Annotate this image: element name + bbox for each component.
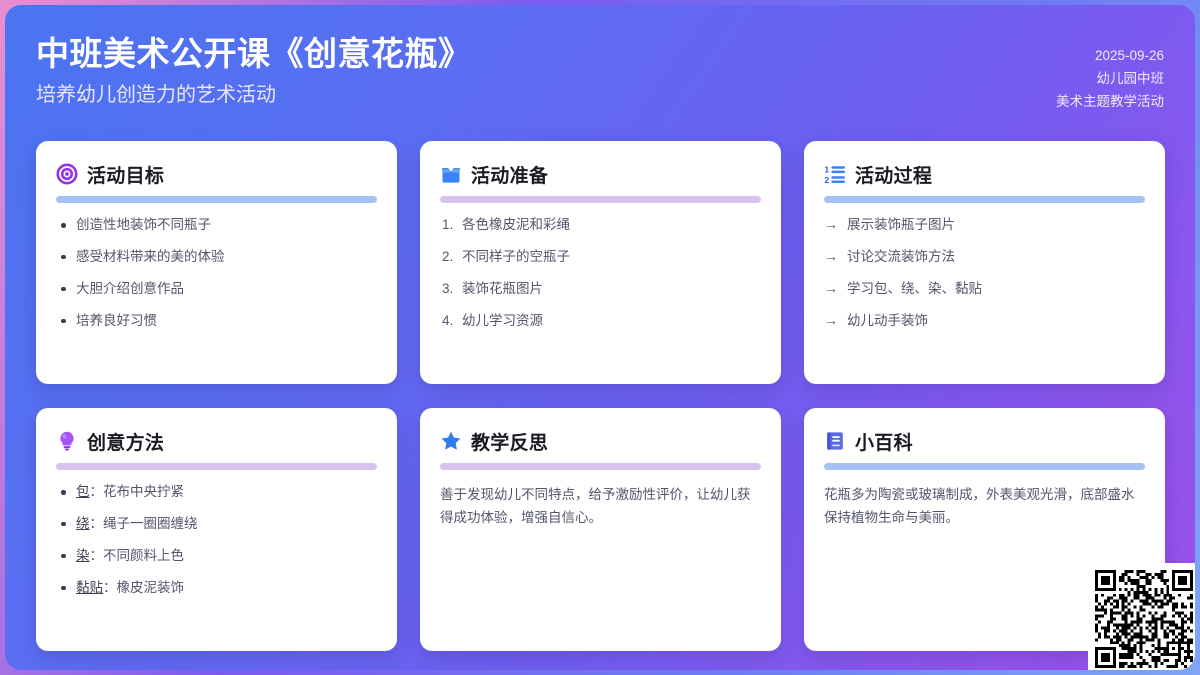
card-preparation[interactable]: 活动准备 各色橡皮泥和彩绳 不同样子的空瓶子 装饰花瓶图片 幼儿学习资源 [420, 141, 781, 384]
card-header: 活动准备 [440, 161, 761, 187]
meta-class: 幼儿园中班 [1056, 67, 1164, 90]
process-list: 展示装饰瓶子图片 讨论交流装饰方法 学习包、绕、染、黏贴 幼儿动手装饰 [824, 216, 1145, 331]
list-item: 黏贴：橡皮泥装饰 [56, 579, 377, 598]
list-item: 创造性地装饰不同瓶子 [56, 216, 377, 235]
card-reflection[interactable]: 教学反思 善于发现幼儿不同特点，给予激励性评价，让幼儿获得成功体验，增强自信心。 [420, 408, 781, 651]
svg-text:1: 1 [824, 164, 829, 174]
qr-code-container[interactable] [1088, 563, 1195, 670]
methods-list: 包：花布中央拧紧 绕：绳子一圈圈缠绕 染：不同颜料上色 黏贴：橡皮泥装饰 [56, 483, 377, 598]
encyclopedia-paragraph: 花瓶多为陶瓷或玻璃制成，外表美观光滑，底部盛水保持植物生命与美丽。 [824, 483, 1145, 530]
list-item: 包：花布中央拧紧 [56, 483, 377, 502]
qr-code [1095, 570, 1193, 668]
book-icon [824, 430, 846, 452]
card-title: 活动过程 [855, 161, 932, 188]
list-item: 讨论交流装饰方法 [824, 248, 1145, 267]
card-body: 各色橡皮泥和彩绳 不同样子的空瓶子 装饰花瓶图片 幼儿学习资源 [440, 216, 761, 331]
method-desc: ：橡皮泥装饰 [103, 580, 184, 595]
svg-text:2: 2 [824, 175, 829, 185]
method-term: 染 [76, 548, 90, 563]
card-title: 活动准备 [471, 161, 548, 188]
card-title: 创意方法 [87, 428, 164, 455]
card-title: 活动目标 [87, 161, 164, 188]
title-rule [56, 463, 377, 470]
card-header: 创意方法 [56, 428, 377, 454]
header-meta: 2025-09-26 幼儿园中班 美术主题教学活动 [1056, 44, 1164, 114]
star-icon [440, 430, 462, 452]
card-header: 1 2 活动过程 [824, 161, 1145, 187]
list-item: 幼儿动手装饰 [824, 312, 1145, 331]
list-item: 装饰花瓶图片 [440, 280, 761, 299]
card-methods[interactable]: 创意方法 包：花布中央拧紧 绕：绳子一圈圈缠绕 染：不同颜料上色 黏贴：橡皮泥装… [36, 408, 397, 651]
slide-header: 中班美术公开课《创意花瓶》 培养幼儿创造力的艺术活动 2025-09-26 幼儿… [5, 5, 1195, 135]
page-title: 中班美术公开课《创意花瓶》 [36, 33, 472, 74]
method-term: 包 [76, 484, 90, 499]
method-desc: ：不同颜料上色 [90, 548, 185, 563]
header-title-block: 中班美术公开课《创意花瓶》 培养幼儿创造力的艺术活动 [36, 33, 472, 108]
card-body: 创造性地装饰不同瓶子 感受材料带来的美的体验 大胆介绍创意作品 培养良好习惯 [56, 216, 377, 331]
method-desc: ：绳子一圈圈缠绕 [90, 516, 198, 531]
reflection-paragraph: 善于发现幼儿不同特点，给予激励性评价，让幼儿获得成功体验，增强自信心。 [440, 483, 761, 530]
open-box-icon [440, 163, 462, 185]
card-header: 小百科 [824, 428, 1145, 454]
method-term: 黏贴 [76, 580, 103, 595]
title-rule [824, 463, 1145, 470]
list-item: 不同样子的空瓶子 [440, 248, 761, 267]
list-item: 学习包、绕、染、黏贴 [824, 280, 1145, 299]
title-rule [440, 463, 761, 470]
title-rule [824, 196, 1145, 203]
card-body: 花瓶多为陶瓷或玻璃制成，外表美观光滑，底部盛水保持植物生命与美丽。 [824, 483, 1145, 530]
card-header: 活动目标 [56, 161, 377, 187]
card-header: 教学反思 [440, 428, 761, 454]
card-body: 展示装饰瓶子图片 讨论交流装饰方法 学习包、绕、染、黏贴 幼儿动手装饰 [824, 216, 1145, 331]
card-process[interactable]: 1 2 活动过程 展示装饰瓶子图片 讨论交流装饰方法 学习包、绕、染、黏贴 [804, 141, 1165, 384]
card-title: 小百科 [855, 428, 913, 455]
list-item: 各色橡皮泥和彩绳 [440, 216, 761, 235]
objectives-list: 创造性地装饰不同瓶子 感受材料带来的美的体验 大胆介绍创意作品 培养良好习惯 [56, 216, 377, 331]
meta-category: 美术主题教学活动 [1056, 90, 1164, 113]
card-body: 包：花布中央拧紧 绕：绳子一圈圈缠绕 染：不同颜料上色 黏贴：橡皮泥装饰 [56, 483, 377, 598]
preparation-list: 各色橡皮泥和彩绳 不同样子的空瓶子 装饰花瓶图片 幼儿学习资源 [440, 216, 761, 331]
title-rule [56, 196, 377, 203]
method-desc: ：花布中央拧紧 [90, 484, 185, 499]
list-item: 培养良好习惯 [56, 312, 377, 331]
card-objectives[interactable]: 活动目标 创造性地装饰不同瓶子 感受材料带来的美的体验 大胆介绍创意作品 培养良… [36, 141, 397, 384]
title-rule [440, 196, 761, 203]
lightbulb-icon [56, 430, 78, 452]
meta-date: 2025-09-26 [1056, 44, 1164, 67]
card-title: 教学反思 [471, 428, 548, 455]
list-item: 绕：绳子一圈圈缠绕 [56, 515, 377, 534]
card-grid: 活动目标 创造性地装饰不同瓶子 感受材料带来的美的体验 大胆介绍创意作品 培养良… [36, 141, 1164, 651]
numbered-list-icon: 1 2 [824, 163, 846, 185]
list-item: 染：不同颜料上色 [56, 547, 377, 566]
list-item: 感受材料带来的美的体验 [56, 248, 377, 267]
method-term: 绕 [76, 516, 90, 531]
slide-canvas: 中班美术公开课《创意花瓶》 培养幼儿创造力的艺术活动 2025-09-26 幼儿… [5, 5, 1195, 670]
target-icon [56, 163, 78, 185]
list-item: 展示装饰瓶子图片 [824, 216, 1145, 235]
list-item: 幼儿学习资源 [440, 312, 761, 331]
card-body: 善于发现幼儿不同特点，给予激励性评价，让幼儿获得成功体验，增强自信心。 [440, 483, 761, 530]
page-subtitle: 培养幼儿创造力的艺术活动 [36, 82, 472, 108]
list-item: 大胆介绍创意作品 [56, 280, 377, 299]
